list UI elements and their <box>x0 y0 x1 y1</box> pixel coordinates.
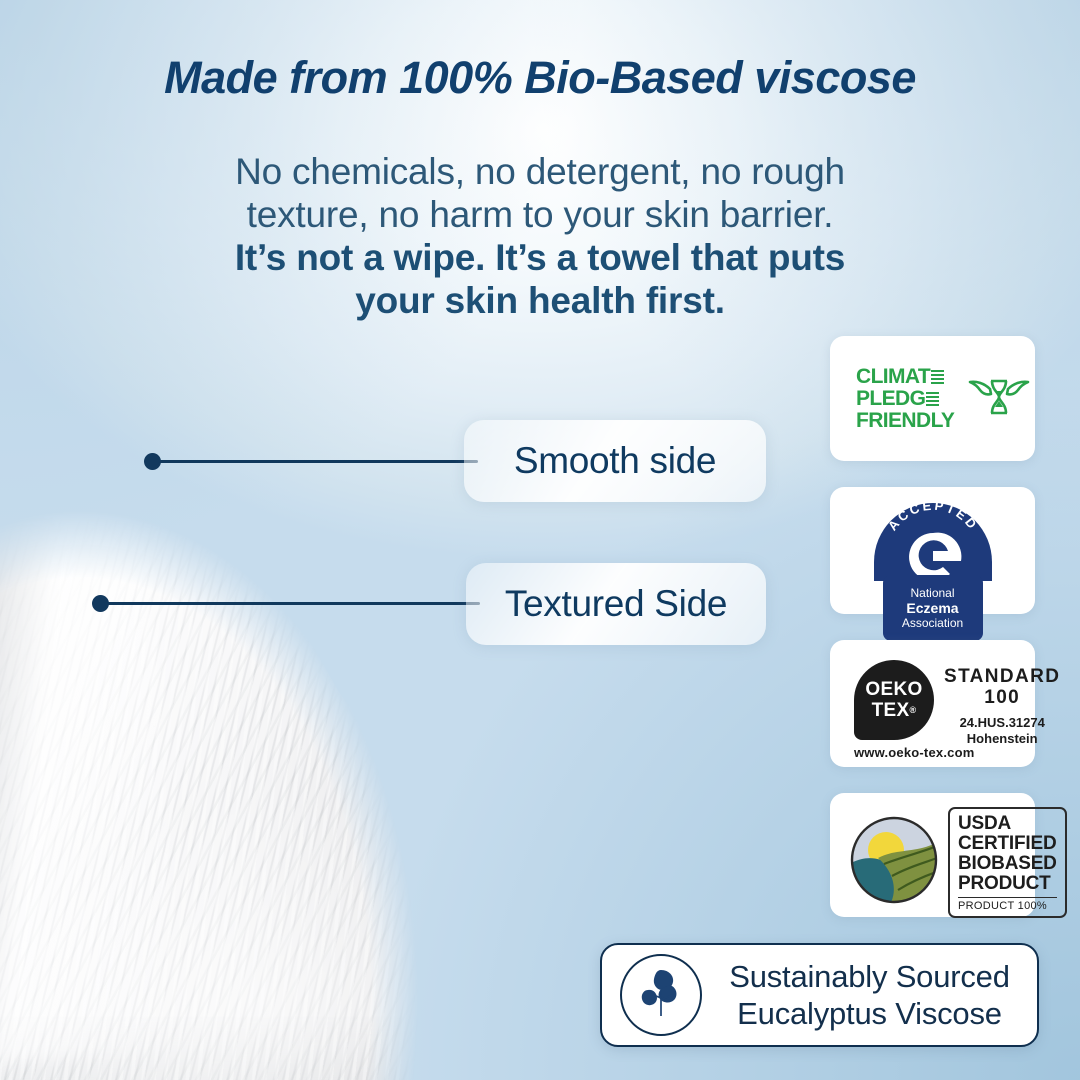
subheading-line-4: your skin health first. <box>0 279 1080 322</box>
climate-pledge-bars-1 <box>931 370 944 384</box>
oeko-tex-standard-line-1: STANDARD <box>944 666 1060 687</box>
eucalyptus-bar-text: Sustainably Sourced Eucalyptus Viscose <box>720 958 1037 1032</box>
callout-dot-smooth <box>144 453 161 470</box>
eczema-line-1: National <box>910 586 954 601</box>
climate-pledge-bars-2 <box>926 392 939 406</box>
callout-label-textured: Textured Side <box>466 563 766 645</box>
climate-pledge-text: CLIMAT PLEDG FRIENDLY <box>856 366 954 432</box>
usda-content-percent: PRODUCT 100% <box>958 897 1057 912</box>
usda-line-2: CERTIFIED <box>958 834 1057 854</box>
badge-usda-certified-biobased: USDA CERTIFIED BIOBASED PRODUCT PRODUCT … <box>830 793 1035 917</box>
usda-line-3: BIOBASED <box>958 854 1057 874</box>
oeko-tex-standard-line-2: 100 <box>944 687 1060 708</box>
callout-leader-textured <box>104 602 480 605</box>
callout-label-smooth: Smooth side <box>464 420 766 502</box>
badge-national-eczema-association: ACCEPTED National Eczema Association <box>830 487 1035 614</box>
oeko-tex-logo-icon: OEKO TEX ® <box>854 660 934 740</box>
subheading-line-1: No chemicals, no detergent, no rough <box>0 150 1080 193</box>
climate-pledge-line-1: CLIMAT <box>856 366 930 388</box>
usda-line-4: PRODUCT <box>958 874 1057 894</box>
eucalyptus-line-2: Eucalyptus Viscose <box>720 995 1019 1032</box>
climate-pledge-line-2: PLEDG <box>856 388 925 410</box>
sun-field-circle-icon <box>848 814 940 911</box>
subheading-line-3: It’s not a wipe. It’s a towel that puts <box>0 236 1080 279</box>
winged-hourglass-icon <box>968 371 1030 428</box>
usda-line-1: USDA <box>958 814 1057 834</box>
eucalyptus-leaf-icon <box>634 966 688 1025</box>
oeko-tex-registered-mark: ® <box>909 700 916 721</box>
subheading: No chemicals, no detergent, no rough tex… <box>0 150 1080 322</box>
product-infographic: Made from 100% Bio-Based viscose No chem… <box>0 0 1080 1080</box>
eczema-line-2: Eczema <box>906 601 958 616</box>
oeko-tex-url: www.oeko-tex.com <box>854 745 974 760</box>
badge-oeko-tex-standard-100: OEKO TEX ® STANDARD 100 24.HUS.31274 Hoh… <box>830 640 1035 767</box>
eucalyptus-sourcing-bar: Sustainably Sourced Eucalyptus Viscose <box>600 943 1039 1047</box>
subheading-line-2: texture, no harm to your skin barrier. <box>0 193 1080 236</box>
callout-dot-textured <box>92 595 109 612</box>
page-title: Made from 100% Bio-Based viscose <box>0 52 1080 104</box>
climate-pledge-line-3: FRIENDLY <box>856 410 954 432</box>
badge-climate-pledge-friendly: CLIMAT PLEDG FRIENDLY <box>830 336 1035 461</box>
eucalyptus-line-1: Sustainably Sourced <box>720 958 1019 995</box>
eczema-line-3: Association <box>902 616 963 631</box>
oeko-tex-brand-line-2: TEX <box>872 700 910 721</box>
oeko-tex-brand-line-1: OEKO <box>865 679 922 700</box>
callout-leader-smooth <box>156 460 478 463</box>
oeko-tex-cert-number: 24.HUS.31274 <box>944 715 1060 731</box>
eucalyptus-icon-circle <box>620 954 702 1036</box>
